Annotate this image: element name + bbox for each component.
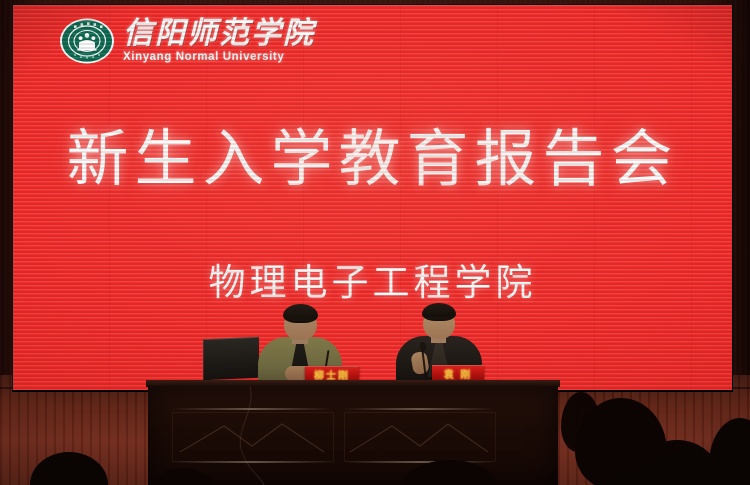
microphone-right-capsule [420, 342, 426, 351]
led-vignette [13, 5, 732, 390]
table-chevron-right [344, 412, 494, 460]
table-trim-upper-right [344, 408, 494, 410]
conference-table [148, 386, 558, 485]
auditorium-photo: 信阳师范学院 Xinyang Normal University 新生入学教育报… [0, 0, 750, 485]
led-screen: 信阳师范学院 Xinyang Normal University 新生入学教育报… [13, 5, 732, 390]
laptop-computer [203, 337, 259, 380]
cable [208, 386, 328, 485]
audience-head-7 [561, 392, 601, 452]
nameplate-right-text: 袁 刚 [444, 366, 473, 381]
speaker-left-eyes [288, 318, 313, 321]
speaker-right-eyes [427, 317, 451, 320]
nameplate-right: 袁 刚 [432, 365, 484, 381]
